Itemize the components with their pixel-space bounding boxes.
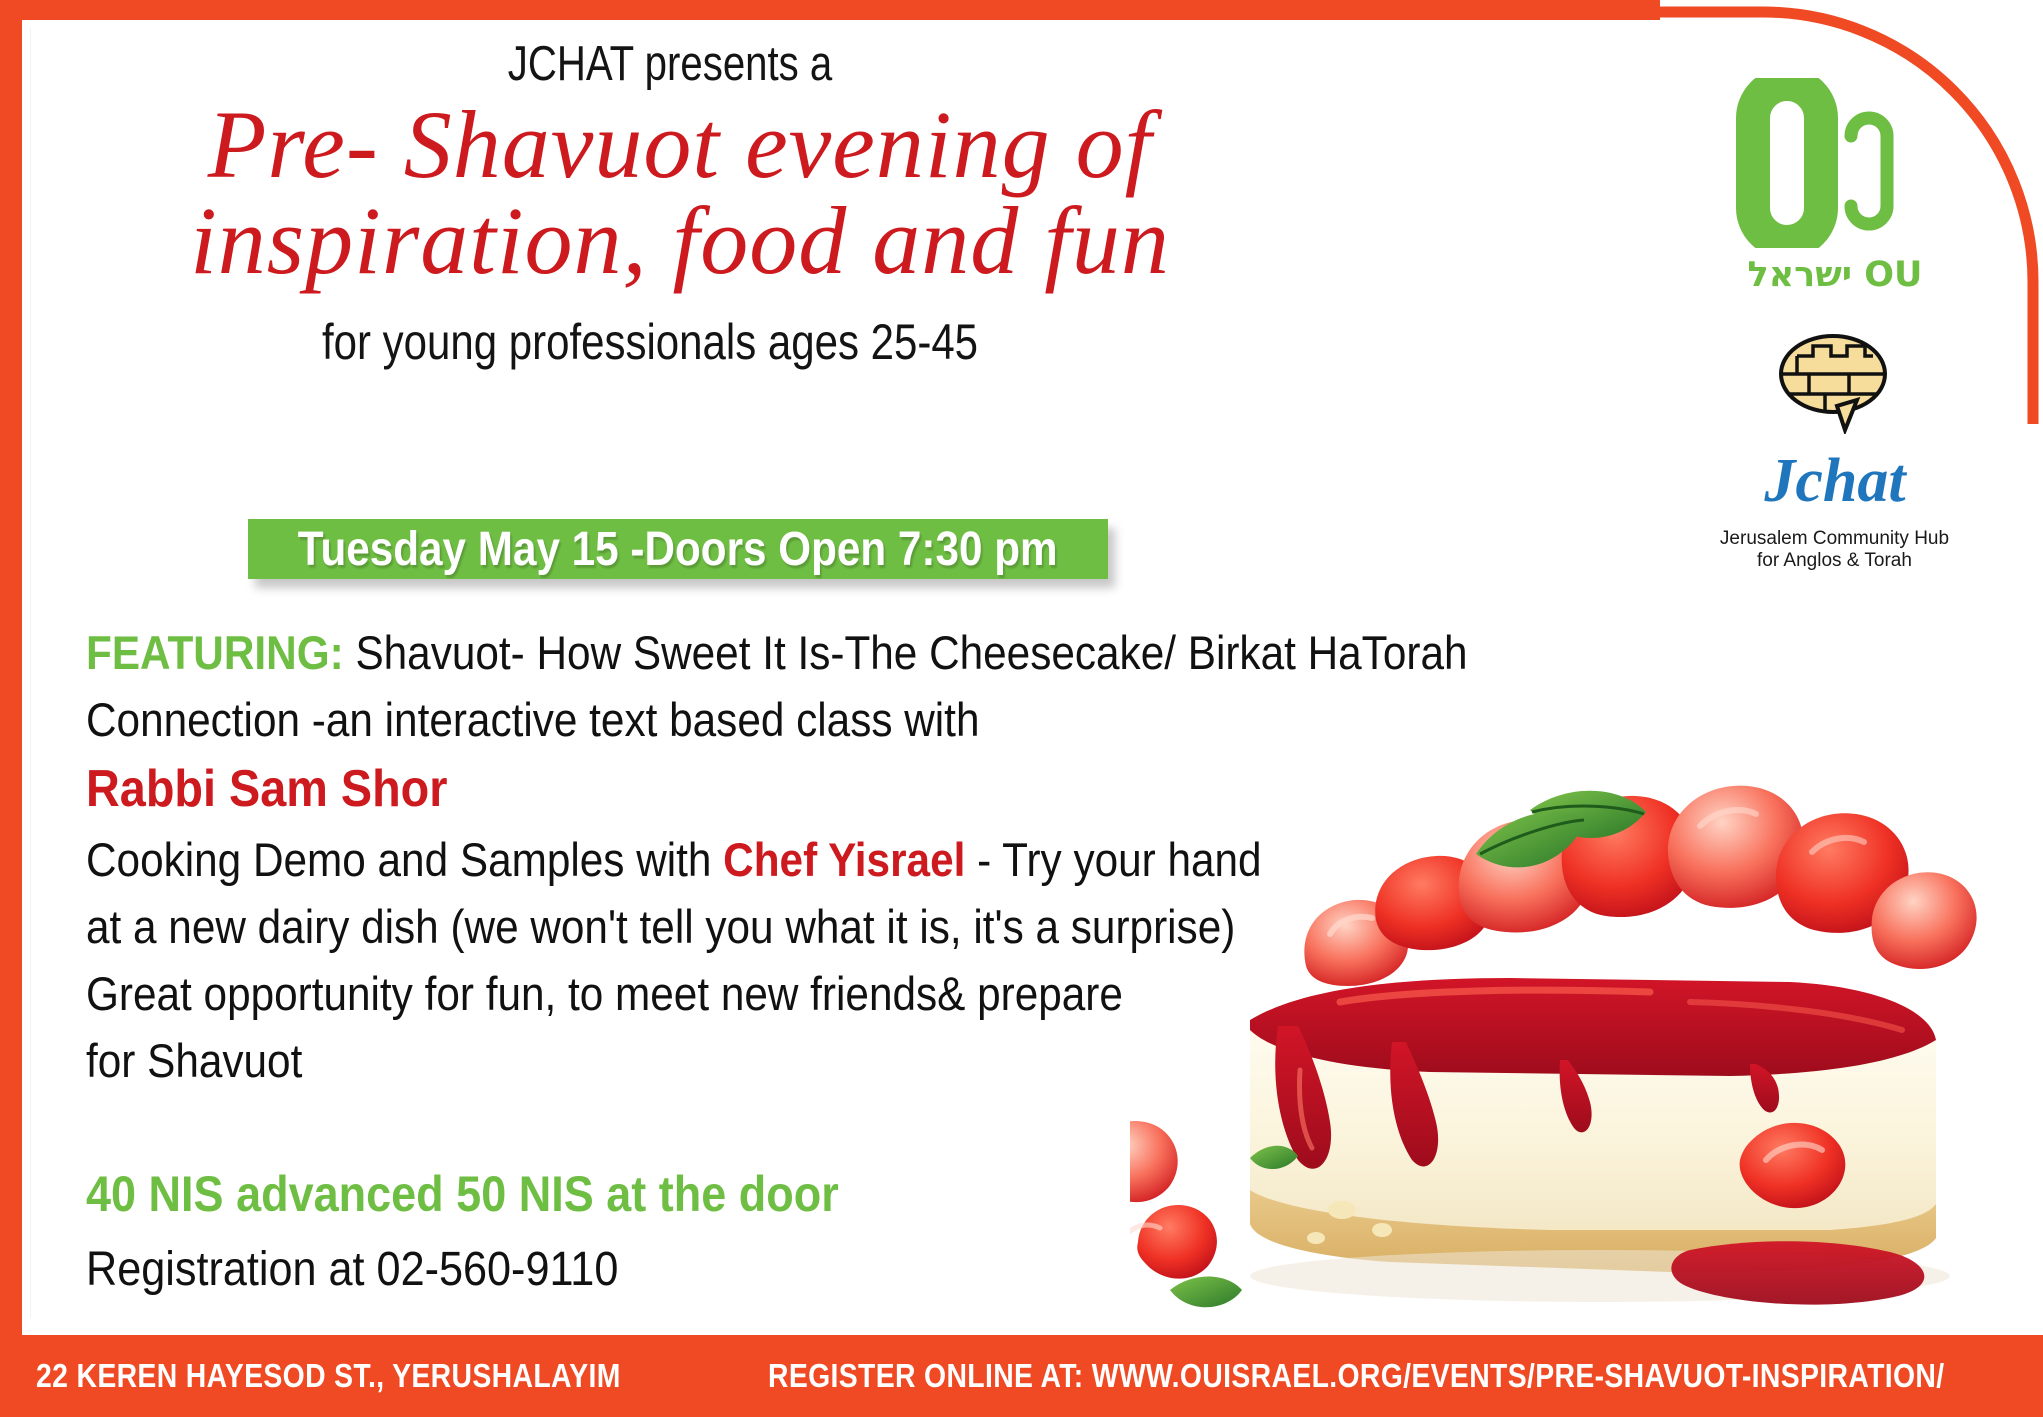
footer-register-url[interactable]: REGISTER ONLINE AT: WWW.OUISRAEL.ORG/EVE…: [768, 1357, 1945, 1395]
cooking-demo-line: Cooking Demo and Samples with Chef Yisra…: [86, 827, 1058, 894]
date-banner: Tuesday May 15 -Doors Open 7:30 pm: [248, 519, 1108, 579]
jchat-tagline-1: Jerusalem Community Hub: [1712, 528, 1957, 550]
page-title: Pre- Shavuot evening of inspiration, foo…: [120, 98, 1240, 288]
featuring-text: Shavuot- How Sweet It Is-The Cheesecake/…: [344, 626, 1468, 679]
chef-name: Chef Yisrael: [723, 833, 965, 886]
ou-israel-hebrew-label: OU ישראל: [1730, 255, 1940, 295]
speaker-line: Rabbi Sam Shor: [86, 753, 1058, 827]
title-line-2: inspiration, food and fun: [120, 194, 1240, 288]
for-shavuot-line: for Shavuot: [86, 1028, 1058, 1095]
footer-address: 22 KEREN HAYESOD ST., YERUSHALAYIM: [36, 1357, 621, 1395]
inner-hairline: [30, 28, 31, 1318]
subtitle-audience: for young professionals ages 25-45: [104, 313, 1196, 371]
dairy-dish-line: at a new dairy dish (we won't tell you w…: [86, 894, 1058, 961]
price-line: 40 NIS advanced 50 NIS at the door: [86, 1165, 839, 1223]
title-line-1: Pre- Shavuot evening of: [120, 98, 1240, 192]
svg-text:Jchat: Jchat: [1763, 447, 1907, 515]
date-banner-text: Tuesday May 15 -Doors Open 7:30 pm: [298, 522, 1058, 577]
jchat-tagline-2: for Anglos & Torah: [1712, 550, 1957, 572]
featuring-line: FEATURING: Shavuot- How Sweet It Is-The …: [86, 620, 1058, 687]
flyer-canvas: JCHAT presents a Pre- Shavuot evening of…: [0, 0, 2043, 1417]
ou-mark-icon: [1735, 235, 1935, 252]
footer-content: 22 KEREN HAYESOD ST., YERUSHALAYIM REGIS…: [0, 1335, 2043, 1417]
registration-line: Registration at 02-560-9110: [86, 1242, 618, 1297]
frame-left-band: [0, 0, 22, 1417]
body-copy: FEATURING: Shavuot- How Sweet It Is-The …: [86, 620, 1166, 1094]
class-description-line: Connection -an interactive text based cl…: [86, 687, 1058, 754]
cheesecake-photo: [1130, 690, 2030, 1330]
speaker-name: Rabbi Sam Shor: [86, 760, 447, 818]
jchat-speech-bubble-icon: [1775, 421, 1895, 438]
opportunity-line: Great opportunity for fun, to meet new f…: [86, 961, 1058, 1028]
ou-israel-logo: OU ישראל: [1730, 78, 1940, 295]
presents-line: JCHAT presents a: [121, 36, 1220, 92]
cooking-demo-pre: Cooking Demo and Samples with: [86, 833, 723, 886]
featuring-label: FEATURING:: [86, 626, 344, 679]
jchat-logo: Jchat Jerusalem Community Hub for Anglos…: [1712, 330, 1957, 572]
frame-top-band: [0, 0, 1660, 20]
